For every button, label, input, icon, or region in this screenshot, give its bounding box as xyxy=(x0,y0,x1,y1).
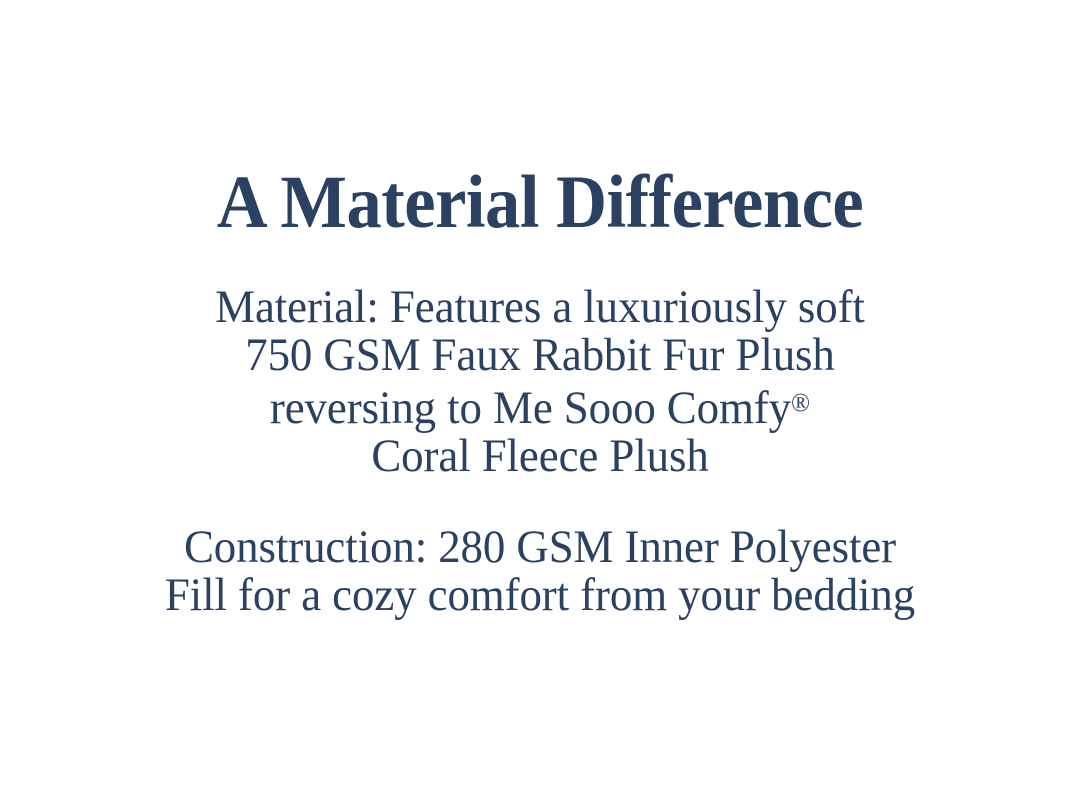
construction-line-2: Fill for a cozy comfort from your beddin… xyxy=(24,571,1055,619)
material-line-1: Material: Features a luxuriously soft xyxy=(24,283,1055,331)
material-line-2: 750 GSM Faux Rabbit Fur Plush xyxy=(24,331,1055,379)
material-section: Material: Features a luxuriously soft 75… xyxy=(0,283,1080,480)
material-line-3: reversing to Me Sooo Comfy® xyxy=(24,379,1055,432)
construction-line-1: Construction: 280 GSM Inner Polyester xyxy=(24,523,1055,571)
product-detail-slide: A Material Difference Material: Features… xyxy=(0,0,1080,800)
construction-section: Construction: 280 GSM Inner Polyester Fi… xyxy=(0,523,1080,619)
registered-trademark-icon: ® xyxy=(791,388,810,417)
material-line-4: Coral Fleece Plush xyxy=(24,432,1055,480)
page-title: A Material Difference xyxy=(32,160,1047,246)
